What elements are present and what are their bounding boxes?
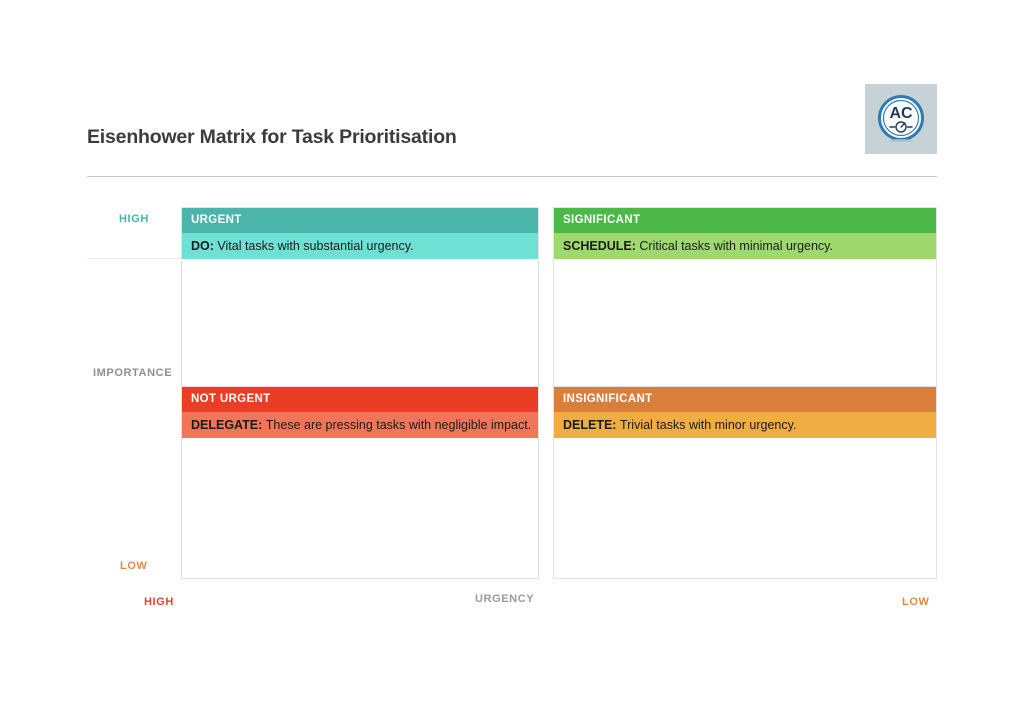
y-axis-title: IMPORTANCE: [93, 367, 172, 379]
brand-logo: AC: [865, 84, 937, 154]
y-axis-low-label: LOW: [120, 560, 147, 572]
quadrant-do-body: DO: Vital tasks with substantial urgency…: [182, 233, 538, 259]
quadrant-delegate[interactable]: NOT URGENT DELEGATE: These are pressing …: [181, 386, 539, 579]
quadrant-schedule-action: SCHEDULE:: [563, 239, 639, 253]
page-title: Eisenhower Matrix for Task Prioritisatio…: [87, 126, 457, 149]
quadrant-delete-header: INSIGNIFICANT: [554, 387, 936, 412]
quadrant-do-action: DO:: [191, 239, 217, 253]
x-axis-high-label: HIGH: [144, 596, 174, 608]
quadrant-schedule-body: SCHEDULE: Critical tasks with minimal ur…: [554, 233, 936, 259]
quadrant-delete-description: Trivial tasks with minor urgency.: [620, 418, 796, 432]
quadrant-delegate-header: NOT URGENT: [182, 387, 538, 412]
x-axis-title: URGENCY: [475, 593, 534, 605]
quadrant-delegate-body: DELEGATE: These are pressing tasks with …: [182, 412, 538, 438]
quadrant-delegate-action: DELEGATE:: [191, 418, 266, 432]
quadrant-delete-body: DELETE: Trivial tasks with minor urgency…: [554, 412, 936, 438]
quadrant-schedule-header: SIGNIFICANT: [554, 208, 936, 233]
quadrant-do-header: URGENT: [182, 208, 538, 233]
x-axis-low-label: LOW: [902, 596, 929, 608]
quadrant-delegate-description: These are pressing tasks with negligible…: [266, 418, 531, 432]
y-axis-high-label: HIGH: [119, 213, 149, 225]
svg-text:AC: AC: [889, 105, 913, 122]
ac-logo-icon: AC: [875, 93, 927, 145]
quadrant-delete-action: DELETE:: [563, 418, 620, 432]
axis-gridline: [87, 258, 181, 259]
quadrant-do-description: Vital tasks with substantial urgency.: [217, 239, 413, 253]
quadrant-schedule-description: Critical tasks with minimal urgency.: [639, 239, 833, 253]
quadrant-delete[interactable]: INSIGNIFICANT DELETE: Trivial tasks with…: [553, 386, 937, 579]
title-divider: [87, 176, 937, 177]
